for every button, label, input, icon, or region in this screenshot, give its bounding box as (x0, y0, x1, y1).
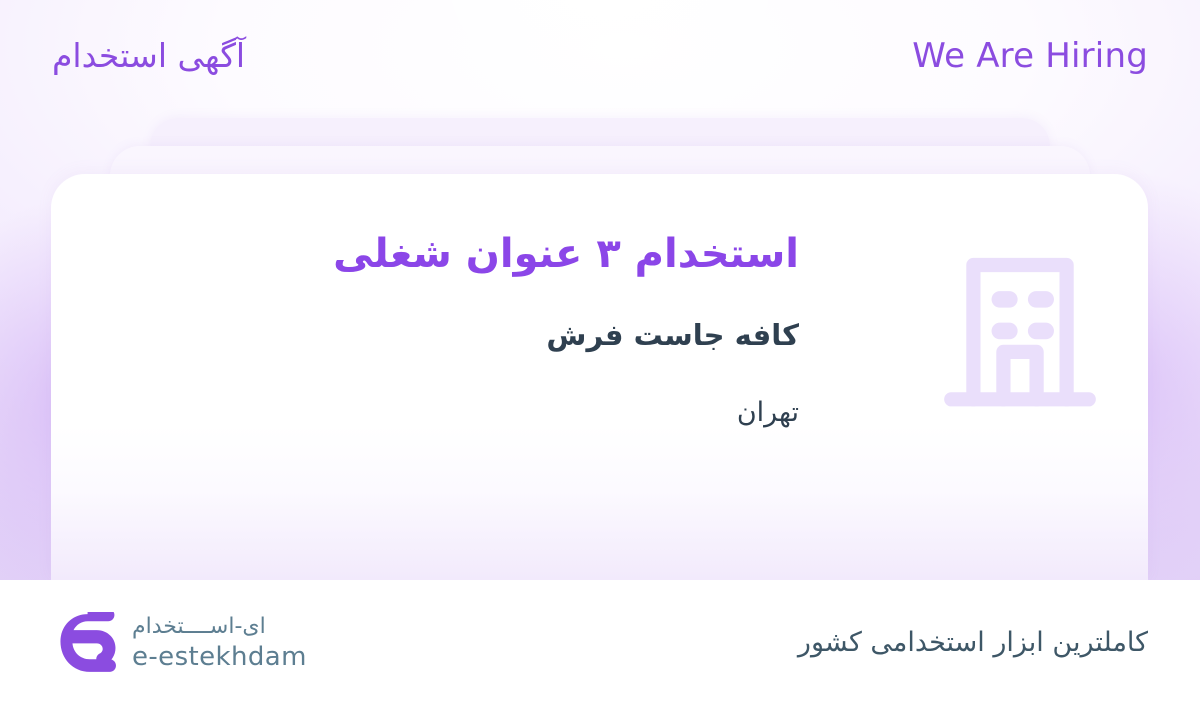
footer-tagline: کاملترین ابزار استخدامی کشور (798, 625, 1148, 660)
job-card-content: استخدام ۳ عنوان شغلی کافه جاست فرش تهران (51, 174, 1148, 580)
we-are-hiring-label: We Are Hiring (912, 39, 1148, 73)
building-icon (941, 244, 1099, 414)
e-letter-logo-icon (56, 612, 118, 674)
brand-lockup[interactable]: ای-اســــتخدام e-estekhdam (56, 612, 307, 674)
brand-name-english: e-estekhdam (132, 644, 307, 670)
job-advertisement-poster: We Are Hiring آگهی استخدام (0, 0, 1200, 705)
job-advertisement-label: آگهی استخدام (52, 35, 245, 76)
brand-name-persian: ای-اســــتخدام (132, 616, 266, 638)
brand-wordmark: ای-اســــتخدام e-estekhdam (132, 616, 307, 670)
company-name: کافه جاست فرش (91, 317, 799, 355)
job-details: استخدام ۳ عنوان شغلی کافه جاست فرش تهران (91, 174, 799, 430)
poster-header: We Are Hiring آگهی استخدام (0, 0, 1200, 112)
poster-footer: کاملترین ابزار استخدامی کشور ای-اســــتخ… (0, 580, 1200, 705)
company-logo-slot (799, 174, 1099, 414)
job-title: استخدام ۳ عنوان شغلی (91, 228, 799, 282)
job-location: تهران (91, 395, 799, 430)
